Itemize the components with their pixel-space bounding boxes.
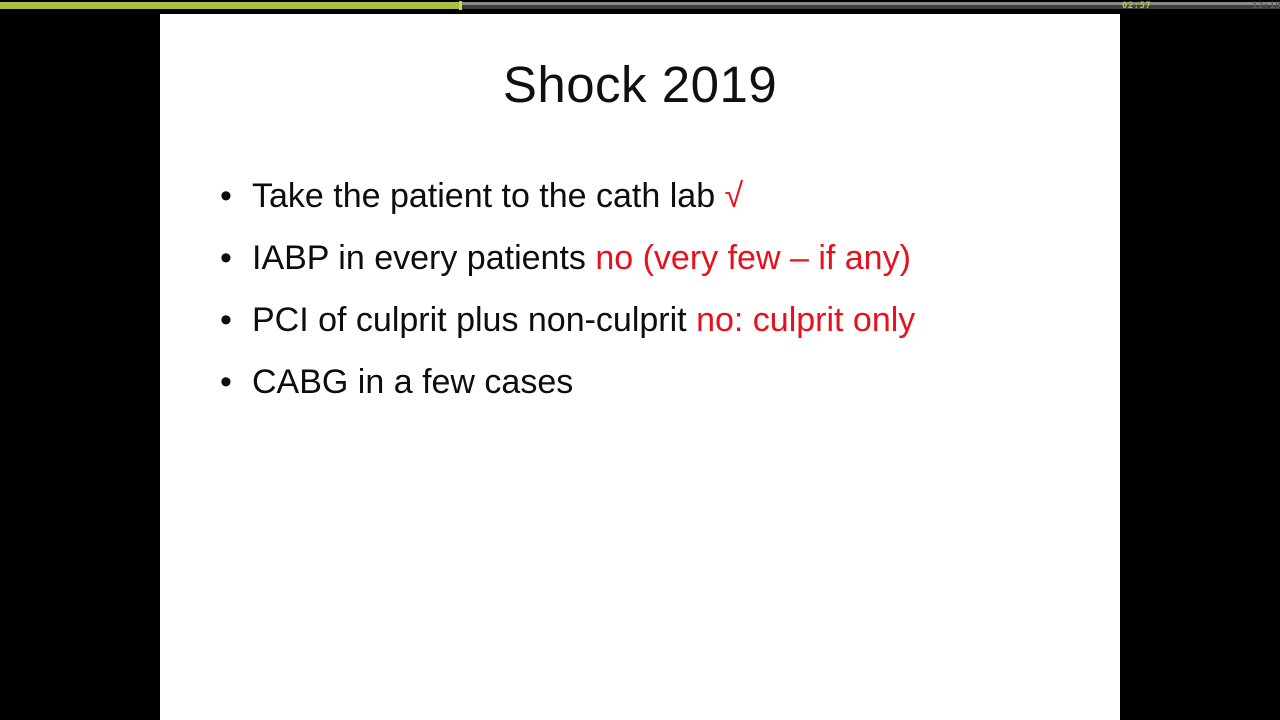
total-time-label: 12:19 <box>1252 1 1280 12</box>
bullet-marker-icon: • <box>220 172 232 220</box>
bullet-text-emphasis: √ <box>725 177 744 215</box>
list-item: •IABP in every patients no (very few – i… <box>212 234 1102 282</box>
bullet-text: PCI of culprit plus non-culprit <box>252 301 696 339</box>
list-item: •CABG in a few cases <box>212 358 1102 406</box>
progress-scrubber-handle[interactable] <box>459 1 462 10</box>
video-progress-bar[interactable]: 02:57 12:19 <box>0 0 1280 14</box>
video-player-viewport: Shock 2019 •Take the patient to the cath… <box>0 0 1280 720</box>
letterbox-pillar-right <box>1120 0 1280 720</box>
list-item: •PCI of culprit plus non-culprit no: cul… <box>212 296 1102 344</box>
bullet-text: CABG in a few cases <box>252 363 573 401</box>
presentation-slide: Shock 2019 •Take the patient to the cath… <box>160 14 1120 720</box>
bullet-marker-icon: • <box>220 296 232 344</box>
elapsed-time-label: 02:57 <box>1122 1 1151 12</box>
progress-fill <box>0 2 461 9</box>
bullet-text-emphasis: no (very few – if any) <box>595 239 911 277</box>
letterbox-pillar-left <box>0 0 160 720</box>
slide-title: Shock 2019 <box>160 54 1120 116</box>
bullet-text: IABP in every patients <box>252 239 595 277</box>
list-item: •Take the patient to the cath lab √ <box>212 172 1102 220</box>
slide-bullet-list: •Take the patient to the cath lab √•IABP… <box>212 172 1102 420</box>
bullet-marker-icon: • <box>220 234 232 282</box>
bullet-text-emphasis: no: culprit only <box>696 301 915 339</box>
bullet-marker-icon: • <box>220 358 232 406</box>
bullet-text: Take the patient to the cath lab <box>252 177 725 215</box>
